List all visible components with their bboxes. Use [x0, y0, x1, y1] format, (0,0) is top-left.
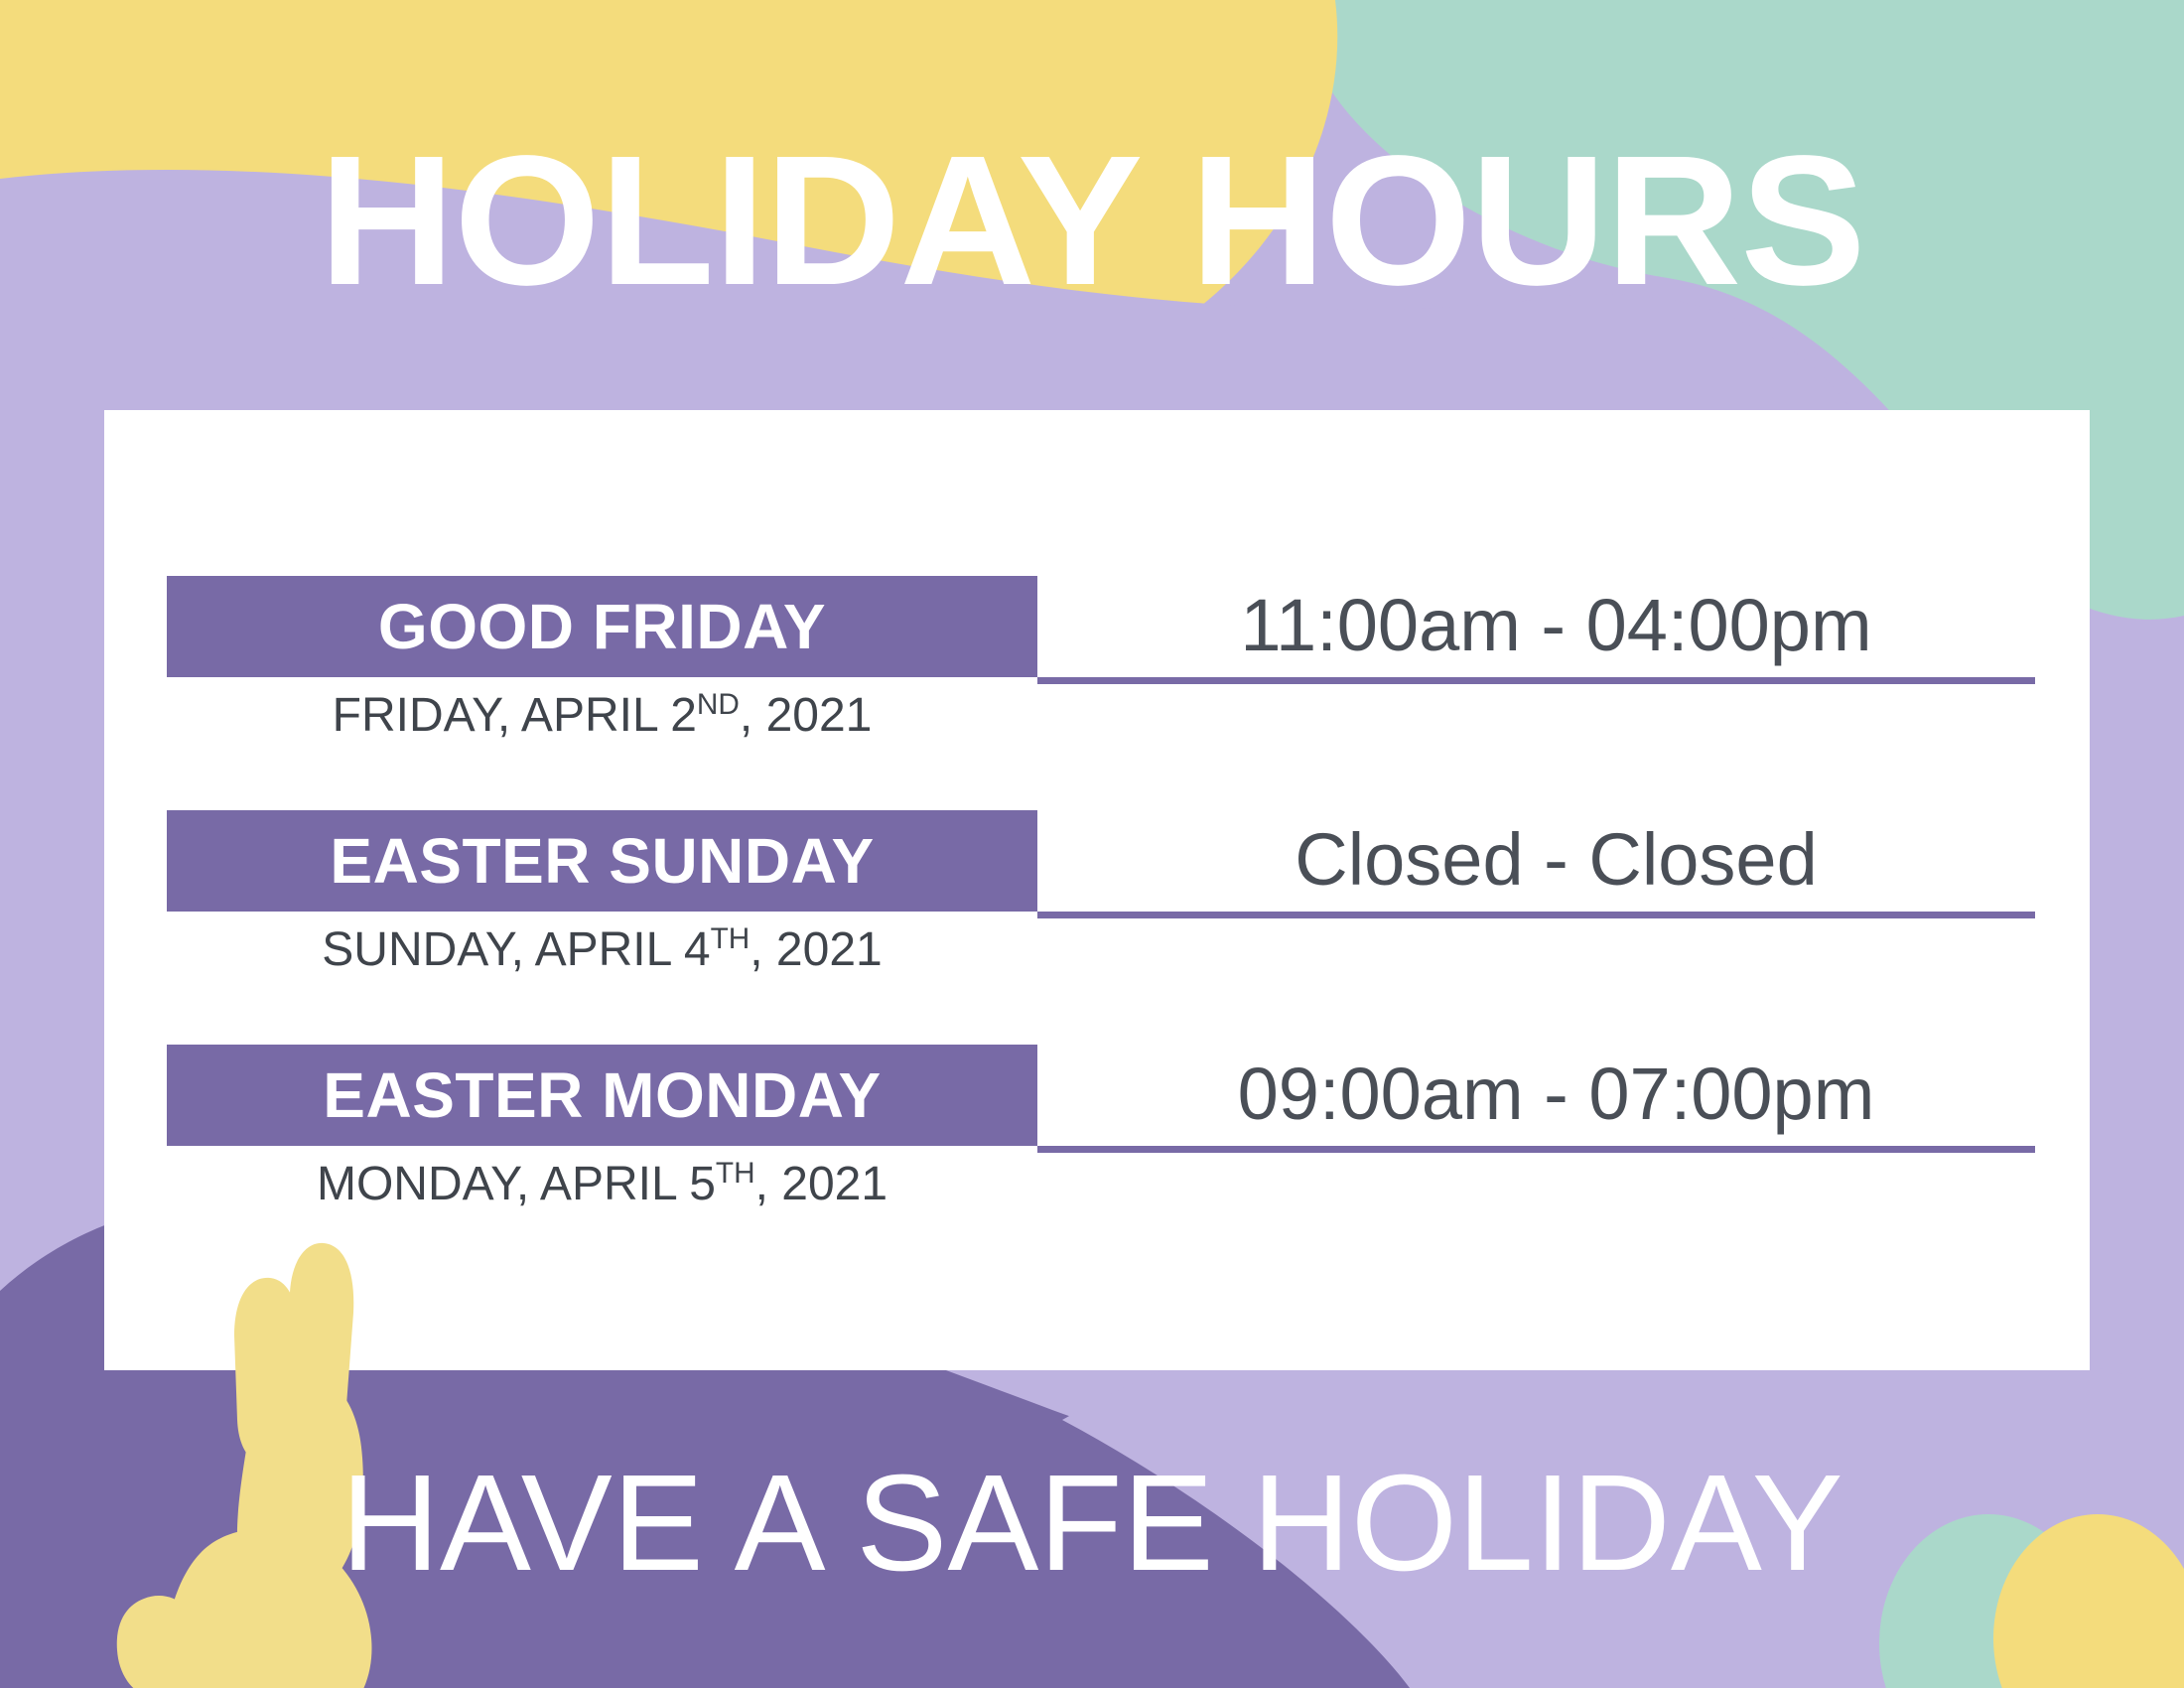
poster-tagline: HAVE A SAFE HOLIDAY — [0, 1455, 2184, 1592]
poster-title: HOLIDAY HOURS — [0, 129, 2184, 314]
holiday-hours-poster: HOLIDAY HOURS GOOD FRIDAY 11:00am - 04:0… — [0, 0, 2184, 1688]
